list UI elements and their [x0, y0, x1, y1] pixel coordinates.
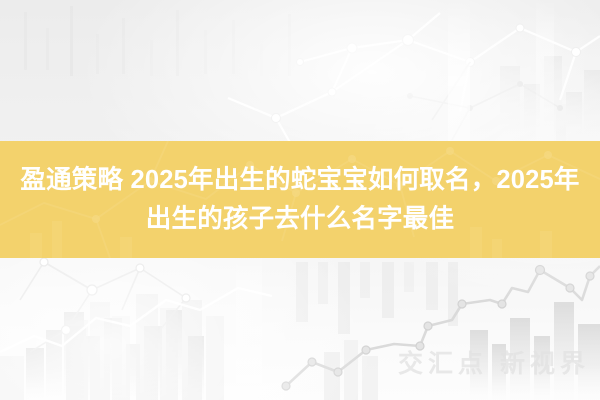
headline-band: 盈通策略 2025年出生的蛇宝宝如何取名，2025年出生的孩子去什么名字最佳: [0, 141, 600, 258]
candlestick-bars-top: [24, 6, 291, 76]
candlestick-bars-bottom: [296, 262, 458, 334]
headline-text: 盈通策略 2025年出生的蛇宝宝如何取名，2025年出生的孩子去什么名字最佳: [20, 161, 580, 239]
banner-image: 交汇点 新视界: [0, 0, 600, 400]
